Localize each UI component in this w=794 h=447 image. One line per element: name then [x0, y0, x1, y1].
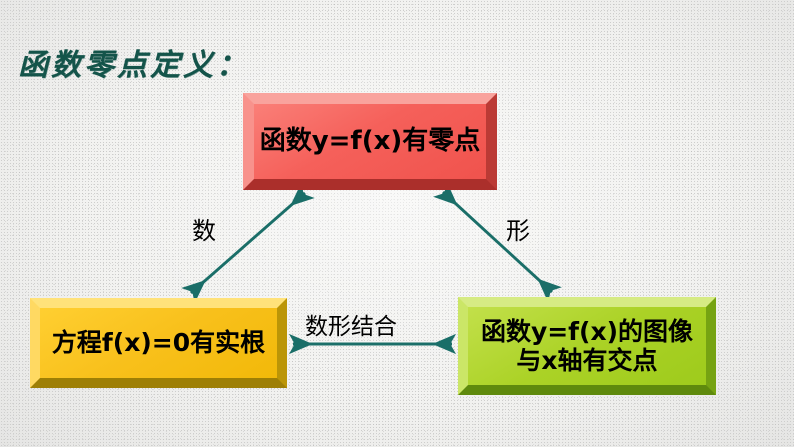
page-title: 函数零点定义： [18, 40, 249, 84]
node-function-has-zero-label: 函数y=f(x)有零点 [254, 126, 486, 157]
arrow-label-shu: 数 [192, 211, 216, 246]
arrow-label-xing: 形 [506, 211, 530, 246]
arrow-label-shuxing-jiehe: 数形结合 [305, 307, 397, 341]
node-graph-intersects-x-axis-label: 函数y=f(x)的图像 与x轴有交点 [468, 317, 706, 376]
node-equation-has-real-root[interactable]: 方程f(x)=0有实根 [30, 298, 287, 388]
node-equation-has-real-root-label: 方程f(x)=0有实根 [40, 328, 277, 358]
slide-canvas: 函数零点定义： 函数y=f(x)有零点 方程f(x)=0有实根 函数y=f(x)… [0, 0, 794, 447]
node-graph-intersects-x-axis[interactable]: 函数y=f(x)的图像 与x轴有交点 [458, 297, 716, 395]
arrow-xing [443, 192, 552, 292]
node-function-has-zero[interactable]: 函数y=f(x)有零点 [243, 93, 497, 190]
